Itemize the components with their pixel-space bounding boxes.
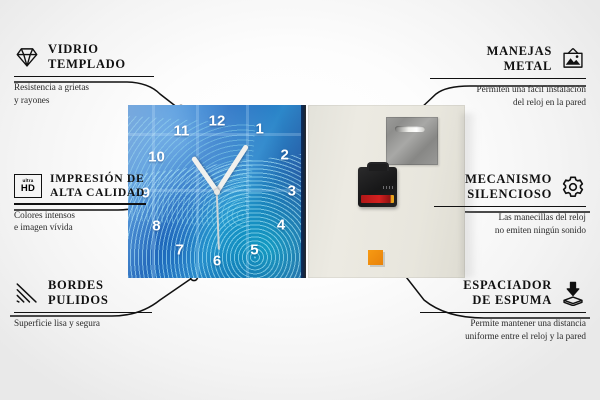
callout-rule (14, 312, 152, 314)
clock-numeral-3: 3 (288, 184, 296, 199)
desc-line-1: Permite mantener una distancia (420, 317, 586, 329)
callout-impresion-alta-calidad: ultra HD IMPRESIÓN DE ALTA CALIDAD Color… (14, 172, 146, 234)
callout-espaciador-espuma: ESPACIADOR DE ESPUMA Permite mantener un… (420, 278, 586, 342)
callout-description: Superficie lisa y segura (14, 317, 146, 329)
callout-title: ESPACIADOR DE ESPUMA (463, 278, 552, 309)
callout-rule (420, 312, 586, 314)
desc-line-2: del reloj en la pared (430, 96, 586, 108)
clock-numeral-5: 5 (250, 243, 258, 258)
clock-numeral-8: 8 (152, 219, 160, 234)
callout-header: VIDRIO TEMPLADO (14, 42, 154, 73)
gear-icon (560, 174, 586, 200)
desc-line-1: Permiten una fácil instalación (430, 83, 586, 95)
ultra-hd-icon-main-text: HD (21, 184, 35, 194)
title-line-2: METAL (487, 59, 552, 74)
clock-side-edge (301, 105, 306, 278)
clock-numeral-12: 12 (209, 114, 226, 129)
title-line-2: ALTA CALIDAD (50, 186, 145, 200)
bevel-edge-icon (14, 280, 40, 306)
mechanism-tab (367, 162, 389, 171)
battery (361, 195, 394, 203)
mechanism-detail (383, 186, 393, 189)
title-line-1: VIDRIO (48, 42, 126, 57)
callout-description: Permite mantener una distancia uniforme … (420, 317, 586, 342)
clock-numeral-4: 4 (277, 218, 285, 233)
clock-front-face: 12 1 2 3 4 5 6 7 8 9 10 11 (128, 105, 306, 278)
callout-bordes-pulidos: BORDES PULIDOS Superficie lisa y segura (14, 278, 146, 330)
callout-rule (430, 78, 586, 80)
clock-numeral-7: 7 (175, 243, 183, 258)
callout-description: Las manecillas del reloj no emiten ningú… (434, 211, 586, 236)
clock-numeral-1: 1 (256, 122, 264, 137)
callout-description: Resistencia a grietas y rayones (14, 81, 154, 106)
callout-rule (14, 76, 154, 78)
callout-header: ultra HD IMPRESIÓN DE ALTA CALIDAD (14, 172, 146, 200)
title-line-2: PULIDOS (48, 293, 108, 308)
infographic-canvas: 12 1 2 3 4 5 6 7 8 9 10 11 (0, 0, 600, 400)
title-line-1: IMPRESIÓN DE (50, 172, 145, 186)
clock-center-pivot (214, 189, 220, 195)
callout-rule (14, 203, 146, 205)
product-photo: 12 1 2 3 4 5 6 7 8 9 10 11 (128, 105, 466, 278)
callout-header: MANEJAS METAL (430, 44, 586, 75)
desc-line-1: Resistencia a grietas (14, 81, 154, 93)
callout-manejas-metal: MANEJAS METAL Permiten una fácil instala… (430, 44, 586, 108)
desc-line-2: e imagen vívida (14, 221, 146, 233)
callout-header: MECANISMO SILENCIOSO (434, 172, 586, 203)
callout-description: Permiten una fácil instalación del reloj… (430, 83, 586, 108)
callout-description: Colores intensos e imagen vívida (14, 209, 146, 234)
desc-line-1: Superficie lisa y segura (14, 317, 146, 329)
clock-numeral-11: 11 (173, 124, 189, 139)
title-line-1: BORDES (48, 278, 108, 293)
callout-mecanismo-silencioso: MECANISMO SILENCIOSO Las manecillas del … (434, 172, 586, 236)
desc-line-2: no emiten ningún sonido (434, 224, 586, 236)
picture-frame-icon (560, 46, 586, 72)
down-arrow-stack-icon (560, 280, 586, 306)
desc-line-2: y rayones (14, 94, 154, 106)
desc-line-1: Colores intensos (14, 209, 146, 221)
title-line-2: TEMPLADO (48, 57, 126, 72)
callout-header: ESPACIADOR DE ESPUMA (420, 278, 586, 309)
callout-title: MANEJAS METAL (487, 44, 552, 75)
desc-line-1: Las manecillas del reloj (434, 211, 586, 223)
diamond-icon (14, 44, 40, 70)
title-line-1: ESPACIADOR (463, 278, 552, 293)
callout-vidrio-templado: VIDRIO TEMPLADO Resistencia a grietas y … (14, 42, 154, 106)
title-line-1: MECANISMO (465, 172, 552, 187)
callout-title: VIDRIO TEMPLADO (48, 42, 126, 73)
desc-line-2: uniforme entre el reloj y la pared (420, 330, 586, 342)
callout-title: MECANISMO SILENCIOSO (465, 172, 552, 203)
title-line-2: SILENCIOSO (465, 187, 552, 202)
clock-numeral-10: 10 (148, 150, 165, 165)
ultra-hd-icon: ultra HD (14, 174, 42, 198)
clock-numeral-2: 2 (280, 148, 288, 163)
clock-mechanism-box (358, 167, 397, 207)
title-line-2: DE ESPUMA (463, 293, 552, 308)
callout-title: BORDES PULIDOS (48, 278, 108, 309)
title-line-1: MANEJAS (487, 44, 552, 59)
foam-spacer (368, 250, 383, 265)
metal-hanger-plate (386, 117, 438, 165)
callout-title: IMPRESIÓN DE ALTA CALIDAD (50, 172, 145, 200)
clock-numeral-6: 6 (213, 254, 221, 269)
callout-rule (434, 206, 586, 208)
callout-header: BORDES PULIDOS (14, 278, 146, 309)
hanger-slot (395, 126, 425, 132)
